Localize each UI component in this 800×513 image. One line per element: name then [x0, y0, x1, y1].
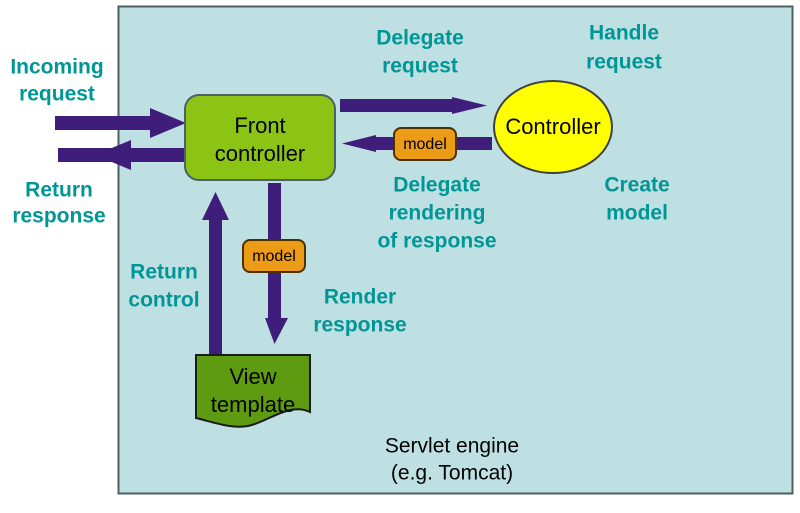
- mvc-flow-diagram: Front controller Controller View templat…: [0, 0, 800, 513]
- view-template-label-line2: template: [211, 392, 295, 417]
- delegate-rendering-line3: of response: [377, 230, 496, 253]
- handle-request-line2: request: [586, 51, 662, 74]
- return-response-line2: response: [12, 205, 105, 228]
- delegate-rendering-line2: rendering: [389, 202, 486, 225]
- servlet-engine-caption-line2: (e.g. Tomcat): [391, 462, 513, 485]
- delegate-rendering-line1: Delegate: [393, 174, 481, 197]
- label-incoming-request: Incoming request: [10, 56, 103, 106]
- front-controller-label-line2: controller: [215, 141, 305, 166]
- view-template-label-line1: View: [229, 364, 276, 389]
- return-control-line2: control: [128, 289, 199, 312]
- label-return-response: Return response: [12, 179, 105, 228]
- handle-request-line1: Handle: [589, 22, 659, 45]
- create-model-line1: Create: [604, 174, 669, 197]
- model-horizontal-label: model: [403, 136, 447, 153]
- diagram-canvas: Front controller Controller View templat…: [0, 0, 800, 513]
- node-front-controller[interactable]: Front controller: [185, 95, 335, 180]
- node-model-vertical[interactable]: model: [243, 240, 305, 272]
- create-model-line2: model: [606, 202, 668, 225]
- return-response-line1: Return: [25, 179, 93, 202]
- render-response-line2: response: [313, 314, 406, 337]
- node-controller[interactable]: Controller: [494, 81, 612, 173]
- label-delegate-rendering: Delegate rendering of response: [377, 174, 496, 253]
- node-view-template[interactable]: View template: [196, 355, 310, 427]
- delegate-request-line1: Delegate: [376, 27, 464, 50]
- node-model-horizontal[interactable]: model: [394, 128, 456, 160]
- render-response-line1: Render: [324, 286, 396, 309]
- incoming-request-line1: Incoming: [10, 56, 103, 79]
- delegate-request-line2: request: [382, 55, 458, 78]
- return-control-line1: Return: [130, 261, 198, 284]
- model-vertical-label: model: [252, 248, 296, 265]
- controller-label: Controller: [505, 114, 600, 139]
- servlet-engine-caption-line1: Servlet engine: [385, 435, 519, 458]
- front-controller-label-line1: Front: [234, 113, 285, 138]
- incoming-request-line2: request: [19, 83, 95, 106]
